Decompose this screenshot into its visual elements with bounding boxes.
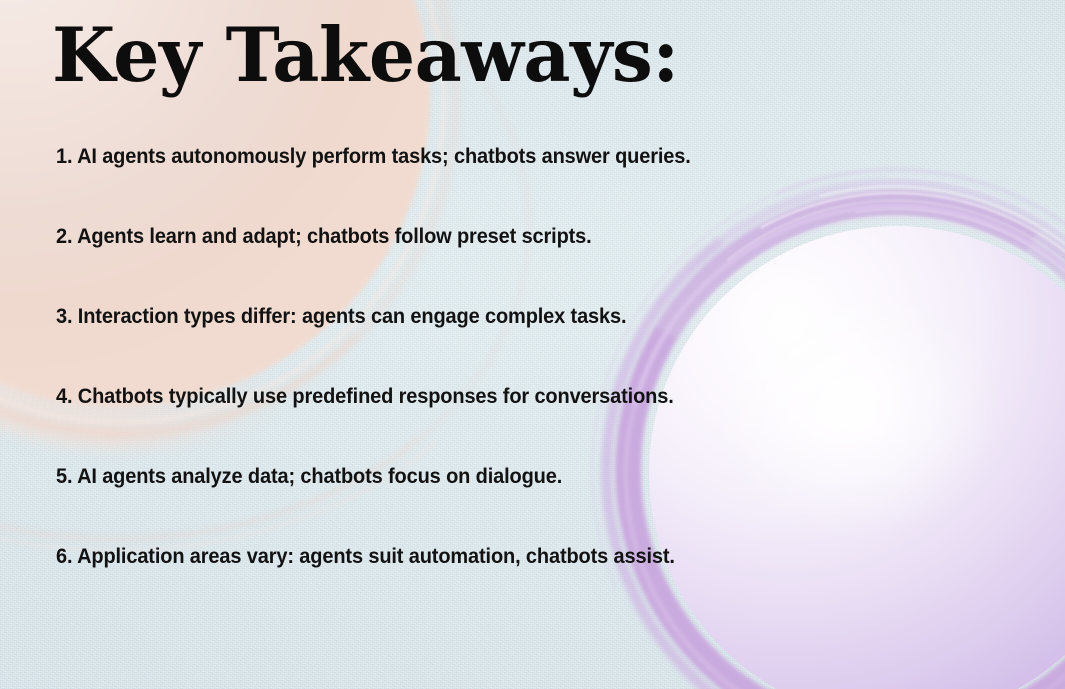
list-item: 2. Agents learn and adapt; chatbots foll… <box>56 226 966 306</box>
takeaways-list: 1. AI agents autonomously perform tasks;… <box>56 146 1035 626</box>
list-item: 5. AI agents analyze data; chatbots focu… <box>56 466 966 546</box>
page-title: Key Takeaways: <box>52 18 679 93</box>
list-item: 6. Application areas vary: agents suit a… <box>56 546 966 626</box>
slide-canvas: Key Takeaways: 1. AI agents autonomously… <box>0 0 1065 689</box>
list-item: 3. Interaction types differ: agents can … <box>56 306 966 386</box>
list-item: 4. Chatbots typically use predefined res… <box>56 386 966 466</box>
slide-content: Key Takeaways: 1. AI agents autonomously… <box>0 0 1065 689</box>
list-item: 1. AI agents autonomously perform tasks;… <box>56 146 966 226</box>
